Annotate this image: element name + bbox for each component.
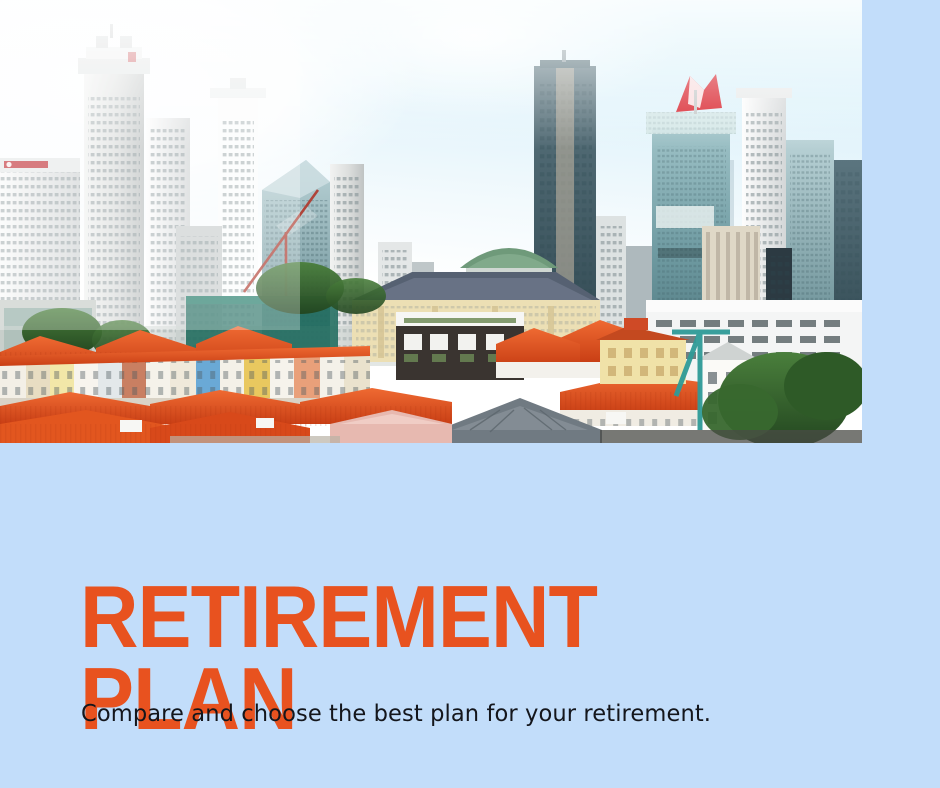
poster-canvas: RETIREMENT PLAN COMPARISON Compare and c… (0, 0, 940, 788)
cityscape-illustration (0, 0, 862, 443)
page-title: RETIREMENT PLAN COMPARISON (80, 494, 724, 788)
page-subtitle: Compare and choose the best plan for you… (81, 699, 711, 727)
hero-image (0, 0, 862, 443)
